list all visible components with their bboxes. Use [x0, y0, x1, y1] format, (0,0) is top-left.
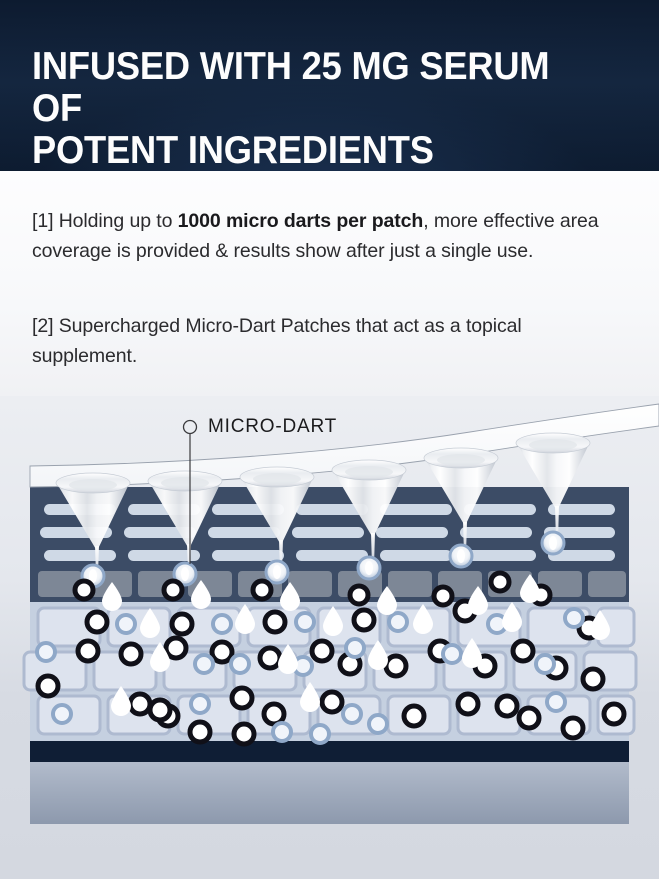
serum-particle-black: [232, 688, 252, 708]
serum-particle-black: [264, 704, 284, 724]
serum-particle-black: [350, 586, 368, 604]
serum-particle-black: [260, 648, 280, 668]
serum-particle-blue: [231, 655, 249, 673]
serum-particle-black: [354, 610, 374, 630]
serum-particle-black: [87, 612, 107, 632]
serum-particle-blue: [37, 643, 55, 661]
paragraph-1: [1] Holding up to 1000 micro darts per p…: [32, 206, 612, 266]
serum-particle-blue: [343, 705, 361, 723]
serum-particle-blue: [389, 613, 407, 631]
serum-particle-black: [322, 692, 342, 712]
serum-particle-black: [312, 641, 332, 661]
serum-particle-black: [404, 706, 424, 726]
serum-particle-blue: [296, 613, 314, 631]
infographic-page: INFUSED WITH 25 MG SERUM OF POTENT INGRE…: [0, 0, 659, 879]
serum-particle-blue: [117, 615, 135, 633]
serum-particle-black: [166, 638, 186, 658]
serum-particle-black: [172, 614, 192, 634]
serum-particle-black: [497, 696, 517, 716]
serum-particle-black: [130, 694, 150, 714]
serum-particle-black: [38, 676, 58, 696]
serum-particle-black: [164, 581, 182, 599]
serum-particle-black: [583, 669, 603, 689]
header-banner: INFUSED WITH 25 MG SERUM OF POTENT INGRE…: [0, 0, 659, 171]
serum-particle-black: [434, 587, 452, 605]
serum-particle-blue: [273, 723, 291, 741]
skin-cross-section-diagram: MICRO-DART: [0, 396, 659, 879]
paragraph-1-prefix: [1] Holding up to: [32, 210, 178, 232]
serum-particle-black: [604, 704, 624, 724]
serum-particle-blue: [311, 725, 329, 743]
serum-particle-black: [190, 722, 210, 742]
layer-muscle-band: [30, 740, 629, 762]
serum-particle-blue: [443, 645, 461, 663]
serum-particle-black: [253, 581, 271, 599]
serum-particle-blue: [195, 655, 213, 673]
serum-particle-black: [563, 718, 583, 738]
serum-particle-blue: [536, 655, 554, 673]
micro-dart-callout-label: MICRO-DART: [208, 416, 337, 438]
serum-particle-black: [491, 573, 509, 591]
page-title: INFUSED WITH 25 MG SERUM OF POTENT INGRE…: [32, 46, 599, 171]
serum-particle-black: [234, 724, 254, 744]
serum-particle-black: [75, 581, 93, 599]
serum-particle-black: [150, 700, 170, 720]
serum-particle-blue: [547, 693, 565, 711]
paragraph-2: [2] Supercharged Micro-Dart Patches that…: [32, 311, 612, 371]
body-copy-section: [1] Holding up to 1000 micro darts per p…: [0, 171, 659, 396]
serum-particle-black: [519, 708, 539, 728]
serum-particle-blue: [565, 609, 583, 627]
serum-particle-blue: [346, 639, 364, 657]
serum-particle-black: [121, 644, 141, 664]
serum-particle-black: [458, 694, 478, 714]
serum-particle-black: [265, 612, 285, 632]
diagram-svg: [0, 396, 659, 879]
serum-particle-blue: [213, 615, 231, 633]
serum-particle-black: [212, 642, 232, 662]
paragraph-1-bold: 1000 micro darts per patch: [178, 210, 424, 232]
serum-particle-blue: [53, 705, 71, 723]
serum-particle-blue: [369, 715, 387, 733]
serum-particle-black: [386, 656, 406, 676]
serum-particle-blue: [191, 695, 209, 713]
serum-particle-black: [78, 641, 98, 661]
serum-particle-black: [513, 641, 533, 661]
callout-marker-icon: [184, 421, 197, 434]
